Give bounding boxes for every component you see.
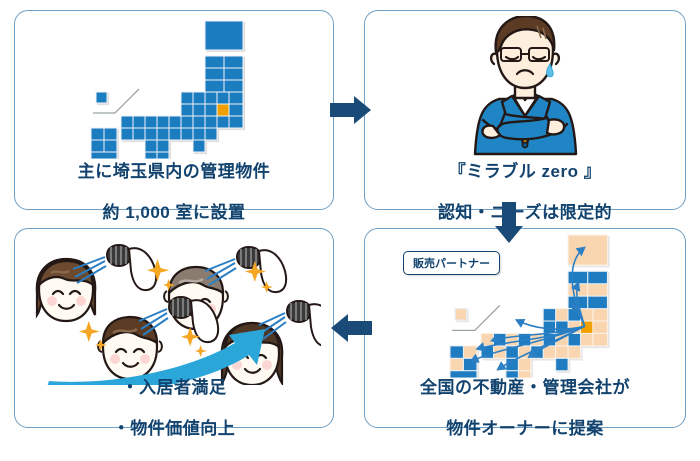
caption-line-2: 物件オーナーに提案 [365,419,685,440]
diagram-canvas: 主に埼玉県内の管理物件 約 1,000 室に設置 [0,0,700,438]
caption-line-1: 全国の不動産・管理会社が [365,378,685,399]
arrow-left-icon [330,313,372,343]
panel-installed: 主に埼玉県内の管理物件 約 1,000 室に設置 [14,10,334,210]
panel-satisfaction: ・入居者満足 ・物件価値向上 [14,228,334,428]
caption-line-1: 主に埼玉県内の管理物件 [15,162,333,183]
panel-awareness: 『ミラブル zero 』 認知・ニーズは限定的 [364,10,686,210]
japan-map-blue-icon [85,19,265,159]
arrow-right-icon [330,95,372,125]
caption-line-2: 約 1,000 室に設置 [15,203,333,224]
arrow-down-icon [494,202,524,244]
panel-nationwide-caption: 全国の不動産・管理会社が 物件オーナーに提案 [365,357,685,461]
caption-line-1: ・入居者満足 [15,378,333,399]
caption-line-2: ・物件価値向上 [15,419,333,440]
caption-line-2: 認知・ニーズは限定的 [365,203,685,224]
worried-businessman-icon [453,16,598,156]
caption-line-1: 『ミラブル zero 』 [365,162,685,183]
panel-nationwide: 販売パートナー [364,228,686,428]
panel-satisfaction-caption: ・入居者満足 ・物件価値向上 [15,357,333,461]
